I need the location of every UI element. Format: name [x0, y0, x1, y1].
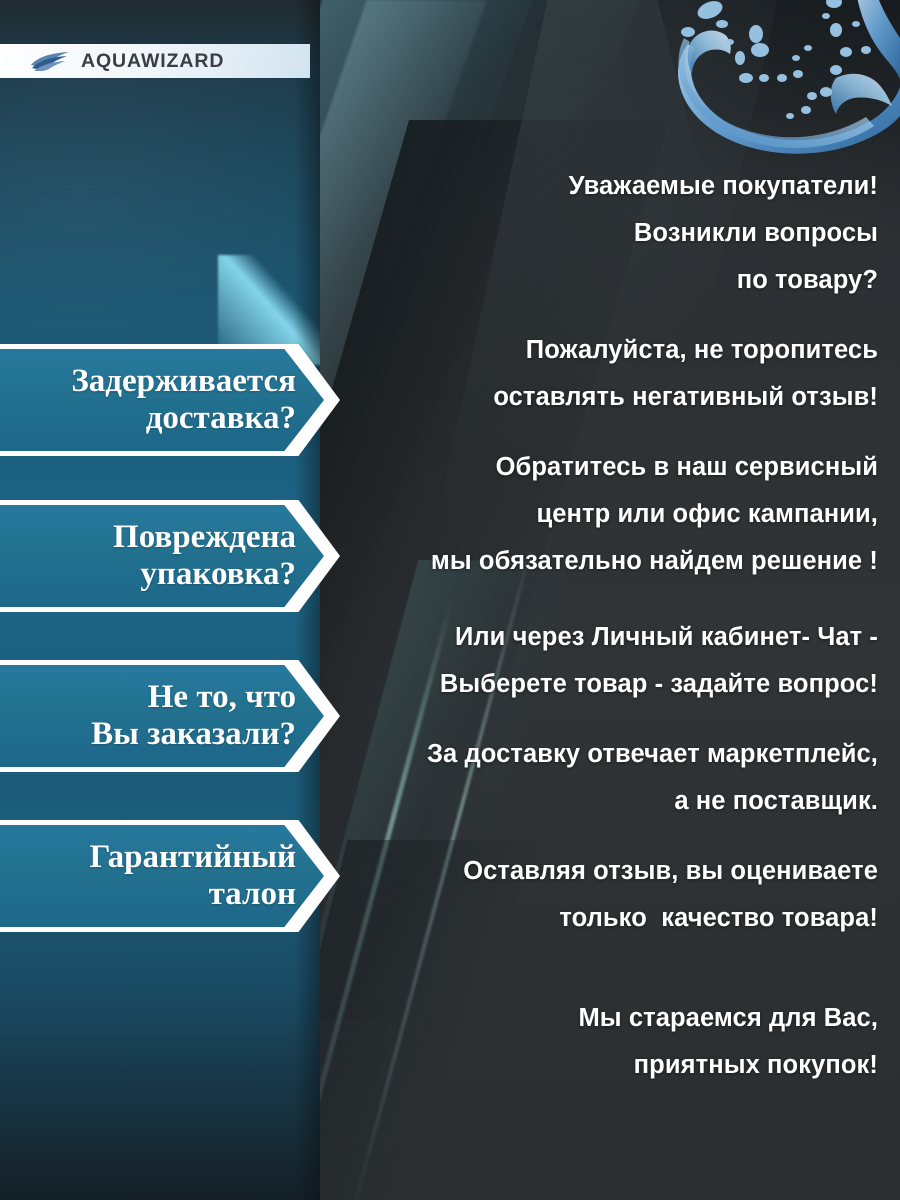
banner-warranty-card[interactable]: Гарантийный талон: [0, 820, 346, 932]
promo-poster: AQUAWIZARD Задерживается доставка? Повре…: [0, 0, 900, 1200]
message-column: Уважаемые покупатели! Возникли вопросы п…: [320, 0, 900, 1200]
message-no-negative-review: Пожалуйста, не торопитесь оставлять нега…: [320, 327, 878, 421]
banner-line: Задерживается: [71, 363, 296, 400]
banner-label: Задерживается доставка?: [0, 344, 310, 456]
message-chat-route: Или через Личный кабинет- Чат - Выберете…: [320, 614, 878, 708]
banner-label: Гарантийный талон: [0, 820, 310, 932]
banner-wrong-item[interactable]: Не то, что Вы заказали?: [0, 660, 346, 772]
banner-line: Вы заказали?: [91, 716, 296, 753]
banner-label: Повреждена упаковка?: [0, 500, 310, 612]
message-review-quality: Оставляя отзыв, вы оцениваете только кач…: [320, 848, 878, 942]
message-greeting: Уважаемые покупатели! Возникли вопросы п…: [320, 163, 878, 304]
message-closing: Мы стараемся для Вас, приятных покупок!: [320, 995, 878, 1089]
banner-delivery-delayed[interactable]: Задерживается доставка?: [0, 344, 346, 456]
banner-line: доставка?: [146, 400, 296, 437]
message-marketplace-delivery: За доставку отвечает маркетплейс, а не п…: [320, 731, 878, 825]
banner-line: Гарантийный: [90, 839, 297, 876]
brand-logo-bar: AQUAWIZARD: [0, 44, 310, 78]
banner-line: Повреждена: [113, 519, 296, 556]
banner-line: Не то, что: [148, 679, 296, 716]
banner-line: упаковка?: [140, 556, 296, 593]
message-contact-service: Обратитесь в наш сервисный центр или офи…: [320, 444, 878, 585]
brand-wordmark: AQUAWIZARD: [81, 50, 224, 73]
banner-label: Не то, что Вы заказали?: [0, 660, 310, 772]
banner-packaging-damaged[interactable]: Повреждена упаковка?: [0, 500, 346, 612]
water-wave-icon: [30, 51, 72, 71]
banner-line: талон: [209, 876, 296, 913]
